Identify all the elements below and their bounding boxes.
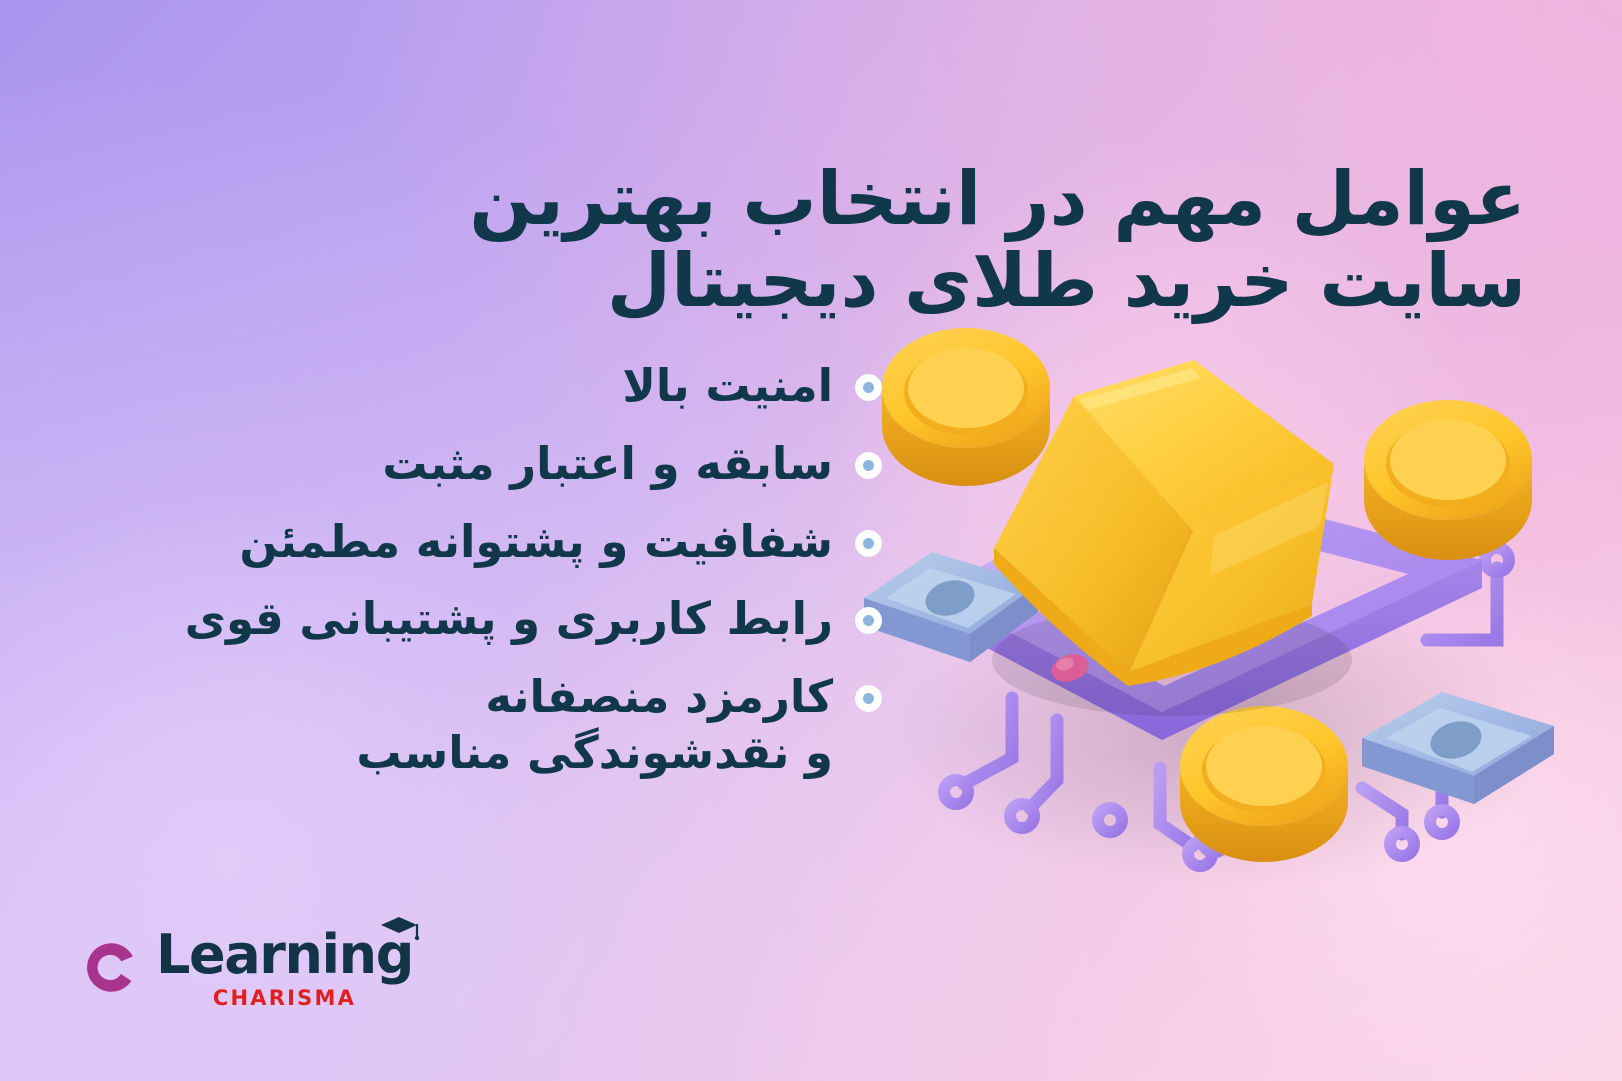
list-item: کارمزد منصفانه و نقدشوندگی مناسب (185, 669, 882, 781)
list-item-label: کارمزد منصفانه و نقدشوندگی مناسب (356, 669, 833, 781)
logo-wordmark: Learning CHARISMA (156, 928, 413, 1009)
feature-list: امنیت بالا سابقه و اعتبار مثبت شفافیت و … (185, 358, 882, 803)
list-item: سابقه و اعتبار مثبت (185, 436, 882, 492)
list-item-label: امنیت بالا (622, 358, 833, 414)
bullet-dot-icon (855, 530, 882, 557)
title-line-2: سایت خرید طلای دیجیتال (466, 240, 1526, 323)
bullet-dot-icon (855, 374, 882, 401)
list-item-label: رابط کاربری و پشتیبانی قوی (185, 591, 833, 647)
graduation-cap-icon (379, 915, 419, 943)
bullet-dot-icon (855, 452, 882, 479)
bullet-dot-icon (855, 607, 882, 634)
list-item-label: سابقه و اعتبار مثبت (382, 436, 833, 492)
title-line-1: عوامل مهم در انتخاب بهترین (466, 158, 1526, 241)
bullet-dot-icon (855, 685, 882, 712)
logo-subtitle: CHARISMA (156, 988, 413, 1009)
gold-coin-bottom (1180, 706, 1348, 862)
logo-word: Learning (156, 928, 413, 982)
brand-logo: Learning CHARISMA (78, 928, 413, 1009)
charisma-c-icon (78, 938, 140, 1000)
gold-coin-top-left (882, 328, 1050, 486)
gold-chip-illustration (842, 268, 1582, 888)
infographic-poster: عوامل مهم در انتخاب بهترین سایت خرید طلا… (0, 0, 1622, 1081)
page-title: عوامل مهم در انتخاب بهترین سایت خرید طلا… (466, 158, 1526, 324)
gold-coin-right (1364, 400, 1532, 560)
list-item: شفافیت و پشتوانه مطمئن (185, 514, 882, 570)
list-item: امنیت بالا (185, 358, 882, 414)
list-item-label: شفافیت و پشتوانه مطمئن (239, 514, 833, 570)
list-item: رابط کاربری و پشتیبانی قوی (185, 591, 882, 647)
